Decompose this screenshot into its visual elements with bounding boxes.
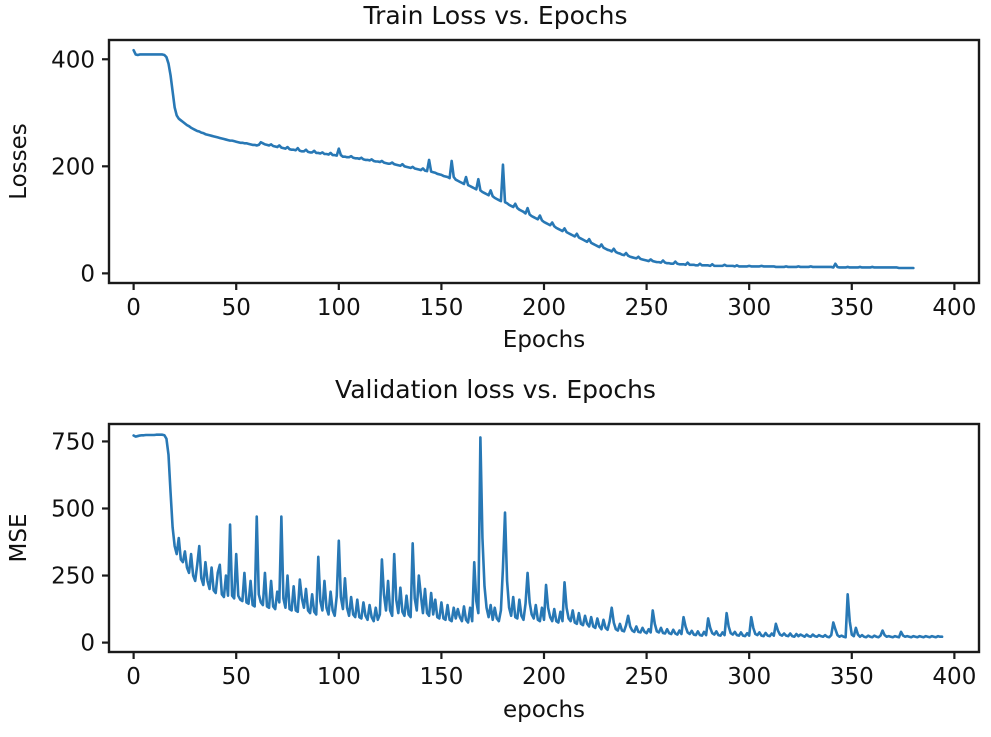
train-loss-ytick-label: 200 (51, 154, 95, 180)
train-loss-xtick-label: 150 (419, 295, 463, 321)
train-loss-xtick-label: 250 (625, 295, 669, 321)
validation-loss-ytick-label: 500 (51, 496, 95, 522)
validation-loss-xtick-label: 150 (419, 664, 463, 690)
validation-loss-xtick-label: 200 (522, 664, 566, 690)
validation-loss-xaxis-label: epochs (503, 697, 585, 723)
train-loss-xtick-label: 350 (830, 295, 874, 321)
validation-loss-series-line (134, 435, 942, 638)
train-loss-xtick-label: 300 (727, 295, 771, 321)
train-loss-series-line (134, 50, 914, 268)
train-loss-yaxis-label: Losses (6, 123, 32, 200)
validation-loss-yaxis-label: MSE (6, 514, 32, 563)
train-loss-xtick-label: 400 (932, 295, 976, 321)
train-loss-ytick-label: 0 (80, 261, 95, 287)
train-loss-plot: 0501001502002503003504000200400EpochsLos… (0, 0, 991, 370)
validation-loss-xtick-label: 250 (625, 664, 669, 690)
train-loss-xaxis-label: Epochs (503, 327, 585, 353)
train-loss-xtick-label: 200 (522, 295, 566, 321)
validation-loss-xtick-label: 300 (727, 664, 771, 690)
validation-loss-xtick-label: 350 (830, 664, 874, 690)
train-loss-xtick-label: 50 (222, 295, 251, 321)
train-loss-subplot: Train Loss vs. Epochs 050100150200250300… (0, 0, 991, 370)
validation-loss-ytick-label: 0 (80, 631, 95, 657)
validation-loss-xtick-label: 50 (222, 664, 251, 690)
validation-loss-ytick-label: 250 (51, 564, 95, 590)
validation-loss-xtick-label: 0 (126, 664, 141, 690)
validation-loss-xtick-label: 400 (932, 664, 976, 690)
train-loss-xtick-label: 100 (317, 295, 361, 321)
validation-loss-subplot: Validation loss vs. Epochs 0501001502002… (0, 370, 991, 737)
validation-loss-xtick-label: 100 (317, 664, 361, 690)
validation-loss-ytick-label: 750 (51, 429, 95, 455)
train-loss-xtick-label: 0 (126, 295, 141, 321)
figure-container: Train Loss vs. Epochs 050100150200250300… (0, 0, 991, 737)
validation-loss-plot: 0501001502002503003504000250500750epochs… (0, 370, 991, 737)
train-loss-ytick-label: 400 (51, 47, 95, 73)
